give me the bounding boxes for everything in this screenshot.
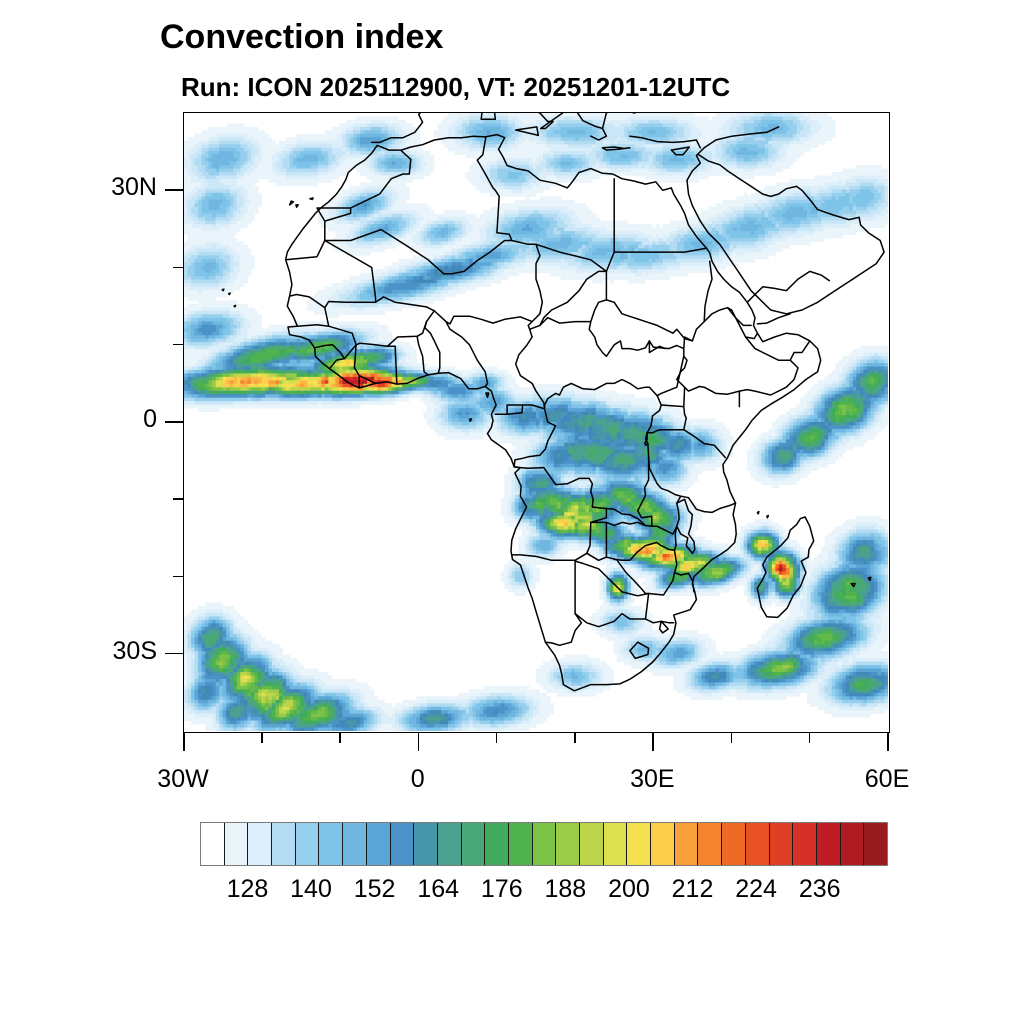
colorbar-tick-label: 128 bbox=[227, 875, 269, 904]
colorbar-cell bbox=[675, 823, 699, 865]
colorbar-cell bbox=[604, 823, 628, 865]
colorbar-cell bbox=[438, 823, 462, 865]
x-axis-tick bbox=[887, 733, 889, 751]
colorbar-cell bbox=[746, 823, 770, 865]
colorbar-cell bbox=[272, 823, 296, 865]
page-title: Convection index bbox=[160, 18, 443, 57]
x-axis-tick bbox=[809, 733, 811, 743]
y-axis-tick bbox=[165, 421, 183, 423]
country-border bbox=[514, 467, 520, 468]
y-axis-label: 30N bbox=[111, 173, 157, 202]
y-axis-label: 0 bbox=[143, 405, 157, 434]
x-axis-label: 0 bbox=[411, 765, 425, 794]
colorbar-cell bbox=[841, 823, 865, 865]
colorbar bbox=[200, 822, 888, 866]
colorbar-cell bbox=[509, 823, 533, 865]
y-axis-tick bbox=[173, 576, 183, 578]
colorbar-tick-label: 212 bbox=[672, 875, 714, 904]
x-axis-label: 60E bbox=[865, 765, 909, 794]
colorbar-cell bbox=[225, 823, 249, 865]
colorbar-cell bbox=[864, 823, 887, 865]
y-axis-tick bbox=[173, 498, 183, 500]
colorbar-cell bbox=[627, 823, 651, 865]
colorbar-cell bbox=[770, 823, 794, 865]
country-border bbox=[310, 198, 313, 200]
colorbar-cell bbox=[817, 823, 841, 865]
colorbar-tick-label: 152 bbox=[354, 875, 396, 904]
x-axis-tick bbox=[183, 733, 185, 751]
colorbar-cell bbox=[414, 823, 438, 865]
colorbar-tick-labels: 128140152164176188200212224236 bbox=[200, 875, 888, 911]
colorbar-cell bbox=[343, 823, 367, 865]
colorbar-cell bbox=[319, 823, 343, 865]
colorbar-tick-label: 236 bbox=[799, 875, 841, 904]
colorbar-cell bbox=[296, 823, 320, 865]
x-axis-label: 30W bbox=[157, 765, 208, 794]
colorbar-tick-label: 176 bbox=[481, 875, 523, 904]
x-axis-tick bbox=[339, 733, 341, 743]
colorbar-cell bbox=[462, 823, 486, 865]
colorbar-cell bbox=[391, 823, 415, 865]
colorbar-cell bbox=[793, 823, 817, 865]
y-axis-tick bbox=[165, 189, 183, 191]
colorbar-tick-label: 164 bbox=[417, 875, 459, 904]
x-axis-tick bbox=[731, 733, 733, 743]
colorbar-cell bbox=[367, 823, 391, 865]
y-axis-label: 30S bbox=[113, 637, 157, 666]
x-axis-tick bbox=[574, 733, 576, 743]
x-axis-label: 30E bbox=[630, 765, 674, 794]
x-axis-tick bbox=[261, 733, 263, 743]
x-axis-tick bbox=[652, 733, 654, 751]
country-border bbox=[229, 293, 231, 295]
colorbar-cell bbox=[556, 823, 580, 865]
country-border bbox=[470, 419, 472, 421]
colorbar-tick-label: 224 bbox=[735, 875, 777, 904]
map-canvas bbox=[184, 113, 888, 731]
colorbar-tick-label: 200 bbox=[608, 875, 650, 904]
colorbar-cell bbox=[533, 823, 557, 865]
colorbar-cell bbox=[722, 823, 746, 865]
colorbar-cell bbox=[485, 823, 509, 865]
country-border bbox=[767, 516, 769, 518]
colorbar-tick-label: 188 bbox=[544, 875, 586, 904]
colorbar-cell bbox=[201, 823, 225, 865]
colorbar-cell bbox=[651, 823, 675, 865]
country-border bbox=[234, 305, 236, 307]
run-valid-time-subtitle: Run: ICON 2025112900, VT: 20251201-12UTC bbox=[181, 72, 730, 103]
map-plot-area bbox=[183, 112, 890, 733]
country-border bbox=[684, 387, 685, 406]
country-border bbox=[222, 289, 224, 291]
y-axis-tick bbox=[173, 267, 183, 269]
colorbar-cell bbox=[580, 823, 604, 865]
colorbar-tick-label: 140 bbox=[290, 875, 332, 904]
colorbar-cell bbox=[248, 823, 272, 865]
figure-root: Convection index Run: ICON 2025112900, V… bbox=[0, 0, 1024, 1024]
country-border bbox=[757, 512, 759, 514]
x-axis-tick bbox=[496, 733, 498, 743]
y-axis-tick bbox=[165, 653, 183, 655]
y-axis-tick bbox=[173, 344, 183, 346]
colorbar-cell bbox=[698, 823, 722, 865]
x-axis-tick bbox=[418, 733, 420, 751]
